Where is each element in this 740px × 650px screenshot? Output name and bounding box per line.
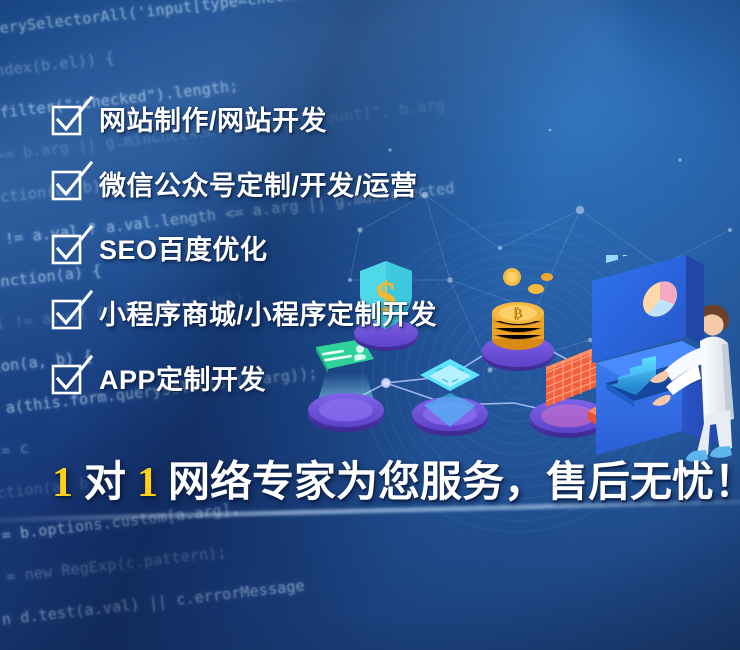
feature-item: 网站制作/网站开发 xyxy=(52,98,692,138)
checkbox-checked-icon xyxy=(52,363,80,391)
feature-label: 微信公众号定制/开发/运营 xyxy=(99,164,418,203)
feature-list: 网站制作/网站开发微信公众号定制/开发/运营SEO百度优化小程序商城/小程序定制… xyxy=(52,98,692,419)
promo-banner: .querySelectorAll('input[type=checkbox]'… xyxy=(0,0,740,650)
checkbox-checked-icon xyxy=(52,233,80,261)
feature-item: 微信公众号定制/开发/运营 xyxy=(52,163,692,203)
headline-middle-word: 对 xyxy=(73,448,137,509)
headline-number-second: 1 xyxy=(137,459,158,507)
feature-label: 小程序商城/小程序定制开发 xyxy=(99,293,437,332)
headline-rest-text: 网络专家为您服务，售后无忧！ xyxy=(158,448,740,509)
checkbox-checked-icon xyxy=(52,298,80,326)
feature-item: APP定制开发 xyxy=(52,357,692,397)
feature-label: APP定制开发 xyxy=(99,358,266,397)
bottom-headline: 1 对 1 网络专家为您服务，售后无忧！ xyxy=(52,448,740,509)
checkbox-checked-icon xyxy=(52,104,80,132)
headline-number-first: 1 xyxy=(52,459,73,507)
feature-label: 网站制作/网站开发 xyxy=(99,99,327,138)
feature-item: SEO百度优化 xyxy=(52,227,692,267)
feature-label: SEO百度优化 xyxy=(99,228,268,267)
feature-item: 小程序商城/小程序定制开发 xyxy=(52,292,692,332)
checkbox-checked-icon xyxy=(52,169,80,197)
